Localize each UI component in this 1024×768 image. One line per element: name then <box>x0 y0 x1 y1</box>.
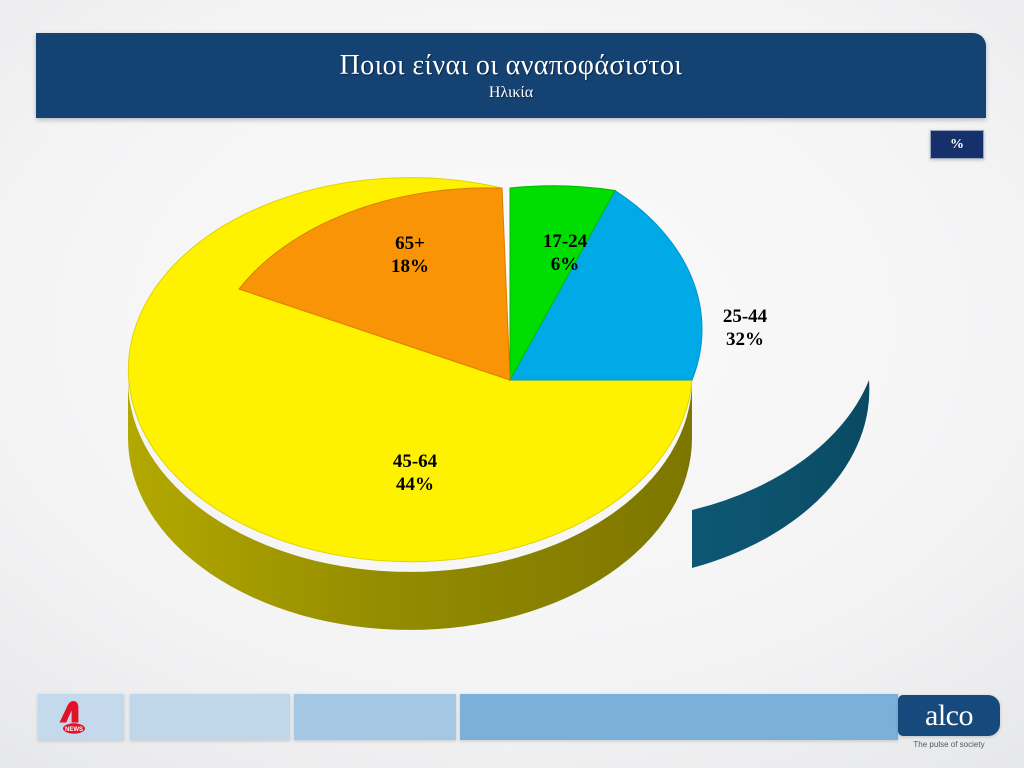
footer-bar-4 <box>460 694 898 740</box>
page-subtitle: Ηλικία <box>36 83 986 102</box>
alpha-news-logo: NEWS <box>52 698 96 738</box>
slide-canvas: Ποιοι είναι οι αναποφάσιστοι Ηλικία % <box>0 0 1024 768</box>
footer-bar-strip <box>0 694 1024 740</box>
footer-bar-2 <box>130 694 290 740</box>
unit-badge: % <box>930 130 984 159</box>
alco-tagline: The pulse of society <box>898 740 1000 750</box>
pie-chart-svg <box>110 170 910 650</box>
pie-chart: 17-24 6% 25-44 32% 45-64 44% 65+ 18% <box>110 170 910 650</box>
title-bar: Ποιοι είναι οι αναποφάσιστοι Ηλικία <box>36 33 986 118</box>
alco-logo: alco <box>898 695 1000 736</box>
page-title: Ποιοι είναι οι αναποφάσιστοι <box>36 50 986 82</box>
alpha-news-label: NEWS <box>65 727 83 733</box>
alco-wordmark: alco <box>925 701 973 731</box>
pie-top-faces <box>128 178 702 562</box>
footer-bar-3 <box>294 694 456 740</box>
